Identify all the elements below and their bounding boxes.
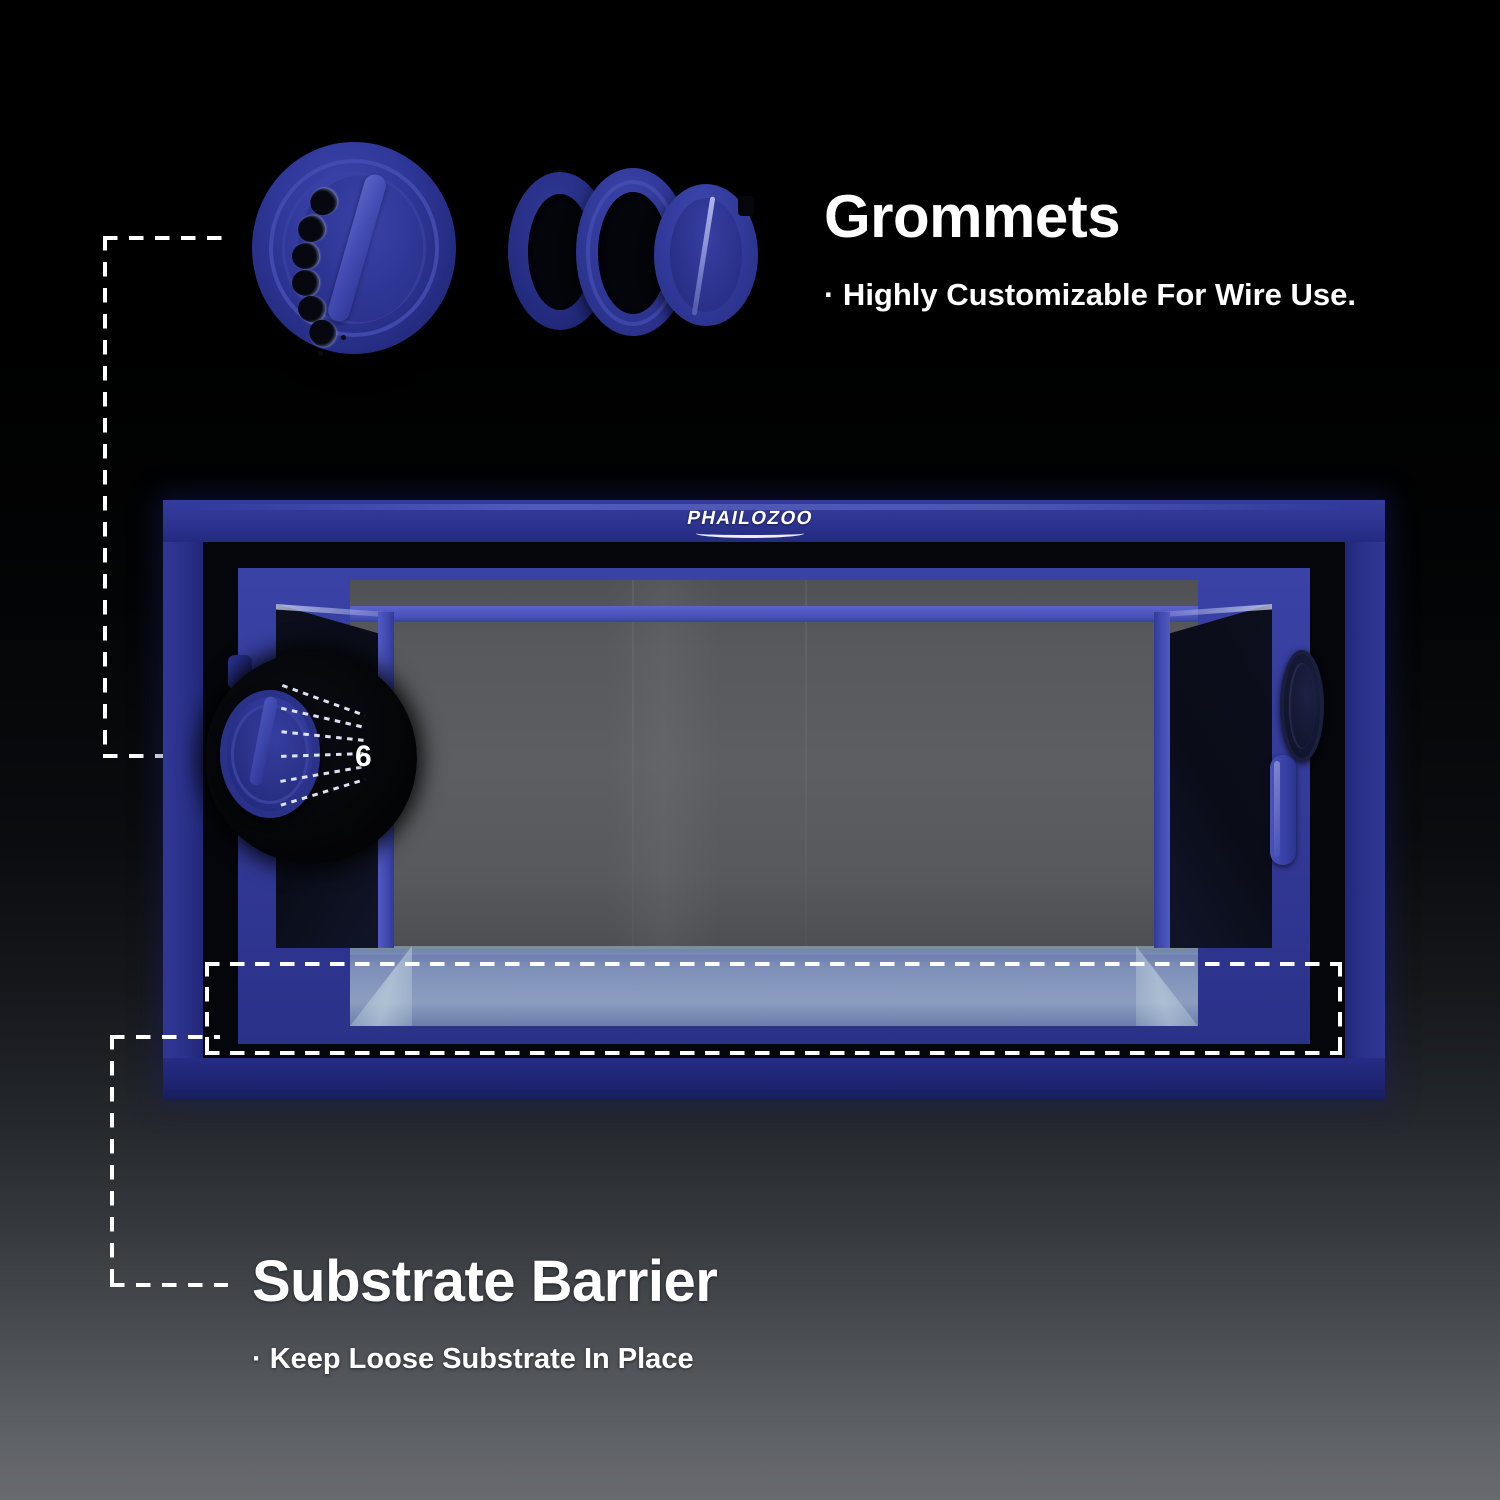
- callout-line-substrate-bottom: [110, 1283, 228, 1287]
- interior-sheen: [604, 580, 723, 949]
- grommet-cap-front: [654, 184, 758, 326]
- substrate-barrier-bullet: · Keep Loose Substrate In Place: [252, 1343, 694, 1376]
- grommet-cap-render: [252, 142, 456, 354]
- enclosure-interior-backdrop: [350, 580, 1198, 949]
- side-grommet-right-bore: [1289, 663, 1315, 749]
- brand-logo: PHAILOZOO: [685, 508, 815, 530]
- callout-line-substrate-left: [110, 1035, 114, 1287]
- interior-panel-seam: [805, 580, 807, 949]
- callout-line-substrate-top: [110, 1035, 220, 1039]
- grommets-bullet: · Highly Customizable For Wire Use.: [824, 277, 1356, 313]
- brand-logo-swoosh: [696, 529, 804, 538]
- frame-rail-bottom: [163, 1058, 1385, 1100]
- substrate-barrier-top-edge: [350, 946, 1198, 955]
- interior-lintel: [350, 606, 1198, 622]
- grommet-magnifier-callout: 6: [205, 652, 417, 864]
- grommet-count-label: 6: [355, 740, 372, 774]
- grommets-headline: Grommets: [824, 182, 1120, 251]
- product-feature-graphic: Grommets · Highly Customizable For Wire …: [0, 0, 1500, 1500]
- glass-panel-right: [1164, 604, 1272, 948]
- door-latch-highlight: [1274, 761, 1280, 857]
- substrate-barrier-glass: [350, 946, 1198, 1026]
- callout-line-grommets-left: [103, 236, 107, 758]
- substrate-barrier-left-face: [350, 946, 412, 1026]
- side-grommet-right: [1280, 650, 1324, 762]
- grommet-cap-front-notch: [738, 196, 754, 216]
- door-latch-handle-right: [1270, 755, 1296, 865]
- substrate-barrier-right-face: [1136, 946, 1198, 1026]
- grommet-cap-vent-dot: [341, 335, 346, 340]
- grommet-cap-vent-dot: [318, 351, 323, 356]
- frame-rail-right: [1345, 500, 1385, 1100]
- grommet-cap-body: [252, 142, 456, 354]
- frame-rail-left: [163, 500, 203, 1100]
- callout-line-grommets-top: [103, 236, 225, 240]
- substrate-barrier-headline: Substrate Barrier: [252, 1248, 717, 1315]
- grommet-rings-render: [508, 168, 758, 338]
- door-jamb-right: [1154, 612, 1170, 948]
